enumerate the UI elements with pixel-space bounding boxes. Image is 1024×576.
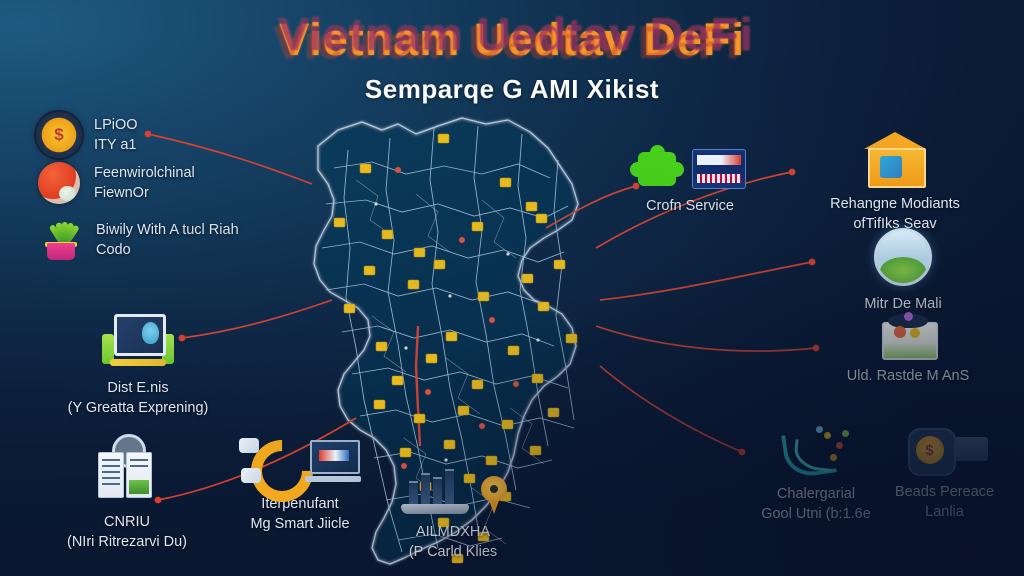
house-icon [864, 132, 926, 186]
node-dist-enis-caption: Dist E.nis (Y Greatta Exprening) [68, 380, 209, 416]
node-mitr-de-mali[interactable]: Mitr De Mali [808, 228, 998, 314]
node-biwily-caption: Biwily With A tucl Riah Codo [96, 220, 239, 260]
landscape-circle-icon [874, 228, 932, 286]
node-cnriu-line-1: CNRIU [104, 514, 150, 530]
node-beads-pereace[interactable]: Beads Pereace Lanlia [862, 424, 1024, 522]
node-crofn-service-caption: Crofn Service [646, 198, 734, 214]
node-crofn-service-line-1: Crofn Service [646, 198, 734, 214]
node-crofn-service[interactable]: Crofn Service [600, 148, 780, 216]
node-lpioo-line-1: LPiOO [94, 117, 138, 133]
node-lpioo-caption: LPiOO ITY a1 [94, 115, 138, 155]
infographic-canvas: Vietnam Uedtav DeFi Vietnam Uedtav DeFi … [0, 0, 1024, 576]
node-biwily-line-2: Codo [96, 242, 131, 258]
node-lpioo[interactable]: LPiOO ITY a1 [36, 112, 138, 158]
documents-magnifier-icon [98, 452, 156, 502]
node-dist-enis-line-1: Dist E.nis [107, 380, 168, 396]
node-uld-rastde-line-1: Uld. Rastde M AnS [847, 368, 970, 384]
smartwatch-coin-icon [902, 424, 988, 476]
node-mitr-de-mali-caption: Mitr De Mali [864, 296, 941, 312]
monitor-desk-icon [100, 312, 176, 370]
node-feenwirolchinal[interactable]: Feenwirolchinal FiewnOr [38, 162, 195, 204]
node-uld-rastde-caption: Uld. Rastde M AnS [847, 368, 970, 384]
node-feenwirolchinal-line-2: FiewnOr [94, 185, 149, 201]
title-block: Vietnam Uedtav DeFi Vietnam Uedtav DeFi … [0, 14, 1024, 66]
node-beads-pereace-line-1: Beads Pereace [895, 484, 994, 500]
node-chalergarial-caption: Chalergarial Gool Utni (b:1.6e [761, 486, 871, 522]
node-rehangne-caption: Rehangne Modiants ofTifIks Seav [830, 196, 960, 232]
node-ailmdxha-line-2: (P Carld Klies [409, 544, 497, 560]
node-iterpenufant-caption: Iterpenufant Mg Smart Jiicle [250, 496, 349, 532]
page-title: Vietnam Uedtav DeFi Vietnam Uedtav DeFi … [279, 14, 745, 66]
title-text: Vietnam Uedtav DeFi [279, 14, 745, 65]
handshake-laptop-icon [239, 436, 301, 486]
laptop-icon [305, 440, 361, 482]
node-lpioo-line-2: ITY a1 [94, 137, 136, 153]
node-ailmdxha-line-1: AILMDXHA [416, 524, 490, 540]
node-uld-rastde[interactable]: Uld. Rastde M AnS [808, 312, 1008, 386]
node-ailmdxha[interactable]: AILMDXHA (P Carld Klies [358, 462, 548, 562]
node-iterpenufant-line-2: Mg Smart Jiicle [250, 516, 349, 532]
node-cnriu-caption: CNRIU (NIri Ritrezarvi Du) [67, 514, 187, 550]
node-mitr-de-mali-line-1: Mitr De Mali [864, 296, 941, 312]
plant-pot-icon [38, 218, 84, 262]
node-biwily-line-1: Biwily With A tucl Riah [96, 222, 239, 238]
node-feenwirolchinal-line-1: Feenwirolchinal [94, 165, 195, 181]
node-rehangne-line-1: Rehangne Modiants [830, 196, 960, 212]
node-rehangne[interactable]: Rehangne Modiants ofTifIks Seav [790, 132, 1000, 234]
node-cnriu-line-2: (NIri Ritrezarvi Du) [67, 534, 187, 550]
node-biwily[interactable]: Biwily With A tucl Riah Codo [38, 218, 239, 262]
coin-icon [36, 112, 82, 158]
node-beads-pereace-line-2: Lanlia [925, 504, 964, 520]
cargo-ship-icon [399, 462, 471, 516]
service-badge-icon [692, 149, 746, 189]
node-chalergarial-line-2: Gool Utni (b:1.6e [761, 506, 871, 522]
gift-basket-icon [880, 312, 936, 358]
node-feenwirolchinal-caption: Feenwirolchinal FiewnOr [94, 163, 195, 203]
page-subtitle: Semparqe G AMI Xikist [0, 74, 1024, 105]
node-chalergarial-line-1: Chalergarial [777, 486, 855, 502]
puzzle-piece-icon [634, 148, 680, 190]
firework-icon [780, 424, 852, 480]
map-pin-icon [481, 476, 507, 516]
node-ailmdxha-caption: AILMDXHA (P Carld Klies [409, 524, 497, 560]
round-food-icon [38, 162, 80, 204]
node-dist-enis[interactable]: Dist E.nis (Y Greatta Exprening) [28, 312, 248, 418]
node-beads-pereace-caption: Beads Pereace Lanlia [895, 484, 994, 520]
node-dist-enis-line-2: (Y Greatta Exprening) [68, 400, 209, 416]
